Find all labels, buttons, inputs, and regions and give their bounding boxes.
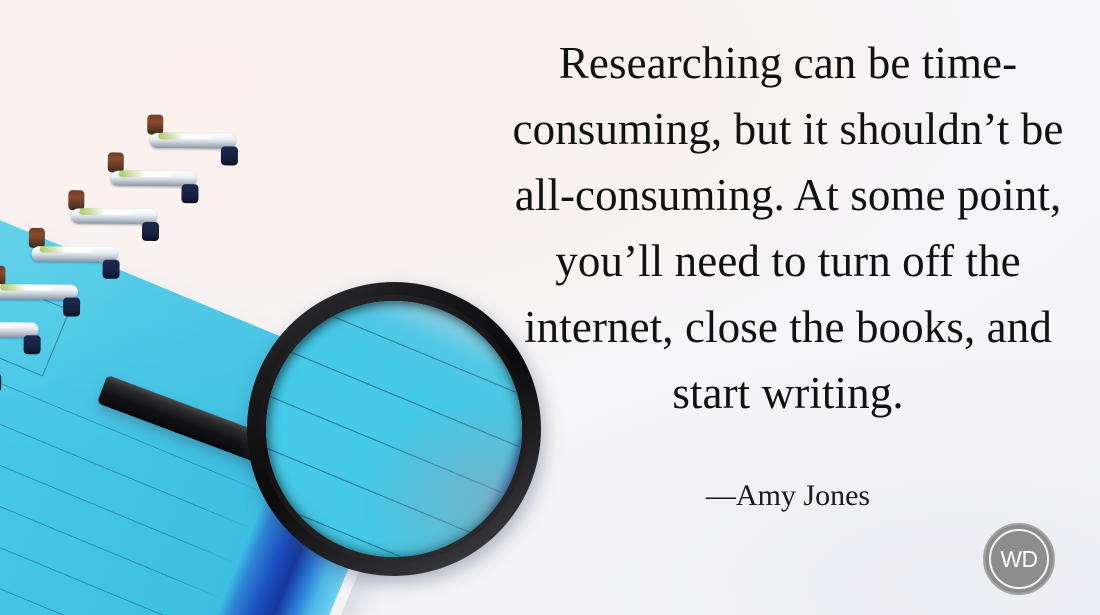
- quote-graphic: Researching can be time- consuming, but …: [0, 0, 1100, 615]
- wd-logo-ring: WD: [989, 529, 1049, 589]
- quote-line: all-consuming. At some point,: [488, 162, 1088, 228]
- quote-line: internet, close the books, and: [488, 294, 1088, 360]
- quote-block: Researching can be time- consuming, but …: [488, 30, 1088, 516]
- lens-inner-shadow: [266, 301, 522, 557]
- spiral-ring: [0, 306, 38, 353]
- spiral-ring: [32, 231, 117, 278]
- quote-line: Researching can be time-: [488, 30, 1088, 96]
- magnifier-lens: [266, 301, 522, 557]
- quote-line: start writing.: [488, 360, 1088, 426]
- quote-line: consuming, but it shouldn’t be: [488, 96, 1088, 162]
- quote-line: you’ll need to turn off the: [488, 228, 1088, 294]
- wd-logo-text: WD: [1000, 548, 1037, 571]
- spiral-ring: [111, 155, 196, 202]
- spiral-ring: [0, 269, 78, 316]
- spiral-ring: [71, 193, 156, 240]
- wd-logo-badge[interactable]: WD: [983, 523, 1055, 595]
- quote-attribution: —Amy Jones: [488, 476, 1088, 516]
